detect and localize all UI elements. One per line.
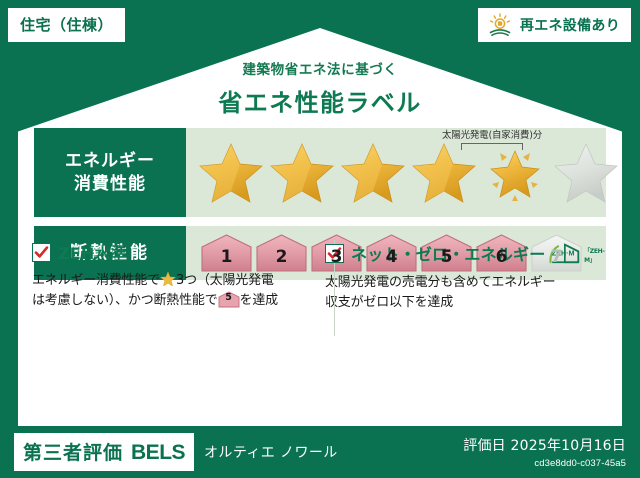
criterion-net-zero-energy: ネット・ゼロ・エネルギー ZEH·M 「ZEH-M」 太陽光発電の売電分も含 <box>325 240 608 313</box>
star-rating <box>186 139 621 207</box>
footer-meta: 評価日 2025年10月16日 cd3e8dd0-c037-45a5 <box>463 435 626 469</box>
renewable-equipment-badge: 再エネ設備あり <box>478 8 631 42</box>
renewable-badge-label: 再エネ設備あり <box>520 15 620 35</box>
bels-evaluation-box: 第三者評価 BELS <box>14 433 194 471</box>
title-subtitle: 建築物省エネ法に基づく <box>18 58 622 78</box>
zeh-desc-part4: を達成 <box>240 293 278 308</box>
energy-stars-area: 太陽光発電(自家消費)分 <box>186 128 621 217</box>
star-filled-4 <box>409 139 479 207</box>
zeh-desc-part3: は考慮しない）、かつ断熱性能で <box>32 293 218 308</box>
criteria-section: ZEH水準 エネルギー消費性能で3つ（太陽光発電は考慮しない）、かつ断熱性能で5… <box>32 240 608 313</box>
inline-badge-number: 5 <box>218 291 240 308</box>
energy-performance-row: エネルギー 消費性能 <box>34 128 606 217</box>
inline-star-icon <box>160 271 176 287</box>
star-filled-2 <box>267 139 337 207</box>
energy-label-line1: エネルギー <box>65 150 155 173</box>
star-filled-3 <box>338 139 408 207</box>
page-title: 省エネ性能ラベル <box>18 83 622 118</box>
building-name: オルティエ ノワール <box>204 442 338 462</box>
evaluation-date: 評価日 2025年10月16日 <box>463 435 626 455</box>
energy-label-line2: 消費性能 <box>74 173 146 196</box>
insulation-badge-2-number: 2 <box>276 249 288 273</box>
insulation-badge-7-number: 7 <box>551 249 563 273</box>
third-party-label: 第三者評価 <box>23 438 123 465</box>
title-block: 建築物省エネ法に基づく 省エネ性能ラベル <box>18 58 622 118</box>
nze-desc-part1: 太陽光発電の売電分も含めてエネルギー <box>325 275 555 290</box>
zeh-checkbox <box>32 243 51 262</box>
check-icon <box>34 245 49 260</box>
insulation-badge-4-number: 4 <box>386 249 398 273</box>
insulation-badge-3-number: 3 <box>331 249 343 273</box>
insulation-badge-6-number: 6 <box>496 249 508 273</box>
criterion-zeh-standard: ZEH水準 エネルギー消費性能で3つ（太陽光発電は考慮しない）、かつ断熱性能で5… <box>32 240 315 313</box>
criterion-zeh-header: ZEH水準 <box>32 240 315 264</box>
zeh-title: ZEH水準 <box>58 240 127 264</box>
criterion-nze-header: ネット・ゼロ・エネルギー ZEH·M 「ZEH-M」 <box>325 240 608 266</box>
sun-solar-icon <box>487 13 513 37</box>
star-solar-5 <box>480 139 550 207</box>
zeh-m-caption: 「ZEH-M」 <box>584 246 611 266</box>
insulation-badge-5-number: 5 <box>441 249 453 273</box>
nze-description: 太陽光発電の売電分も含めてエネルギー収支がゼロ以下を達成 <box>325 273 608 313</box>
energy-performance-label: エネルギー 消費性能 <box>34 128 186 217</box>
building-type-tag: 住宅（住棟） <box>8 8 125 42</box>
insulation-badge-1-number: 1 <box>221 249 233 273</box>
footer-bar: 第三者評価 BELS オルティエ ノワール 評価日 2025年10月16日 cd… <box>0 426 640 478</box>
star-filled-1 <box>196 139 266 207</box>
nze-desc-part2: 収支がゼロ以下を達成 <box>325 295 453 310</box>
zeh-desc-part1: エネルギー消費性能で <box>32 273 160 288</box>
zeh-description: エネルギー消費性能で3つ（太陽光発電は考慮しない）、かつ断熱性能で5を達成 <box>32 271 315 311</box>
energy-label-root: 住宅（住棟） 再エネ設備あり 建築物省エネ法に基づ <box>0 0 640 478</box>
bels-label: BELS <box>131 441 185 465</box>
zeh-desc-part2: 3つ（太陽光発電 <box>176 273 274 288</box>
star-empty-6 <box>551 139 621 207</box>
inline-insulation-badge-icon: 5 <box>218 291 240 308</box>
evaluation-id: cd3e8dd0-c037-45a5 <box>463 458 626 469</box>
label-panel-content: 建築物省エネ法に基づく 省エネ性能ラベル エネルギー 消費性能 <box>18 28 622 426</box>
